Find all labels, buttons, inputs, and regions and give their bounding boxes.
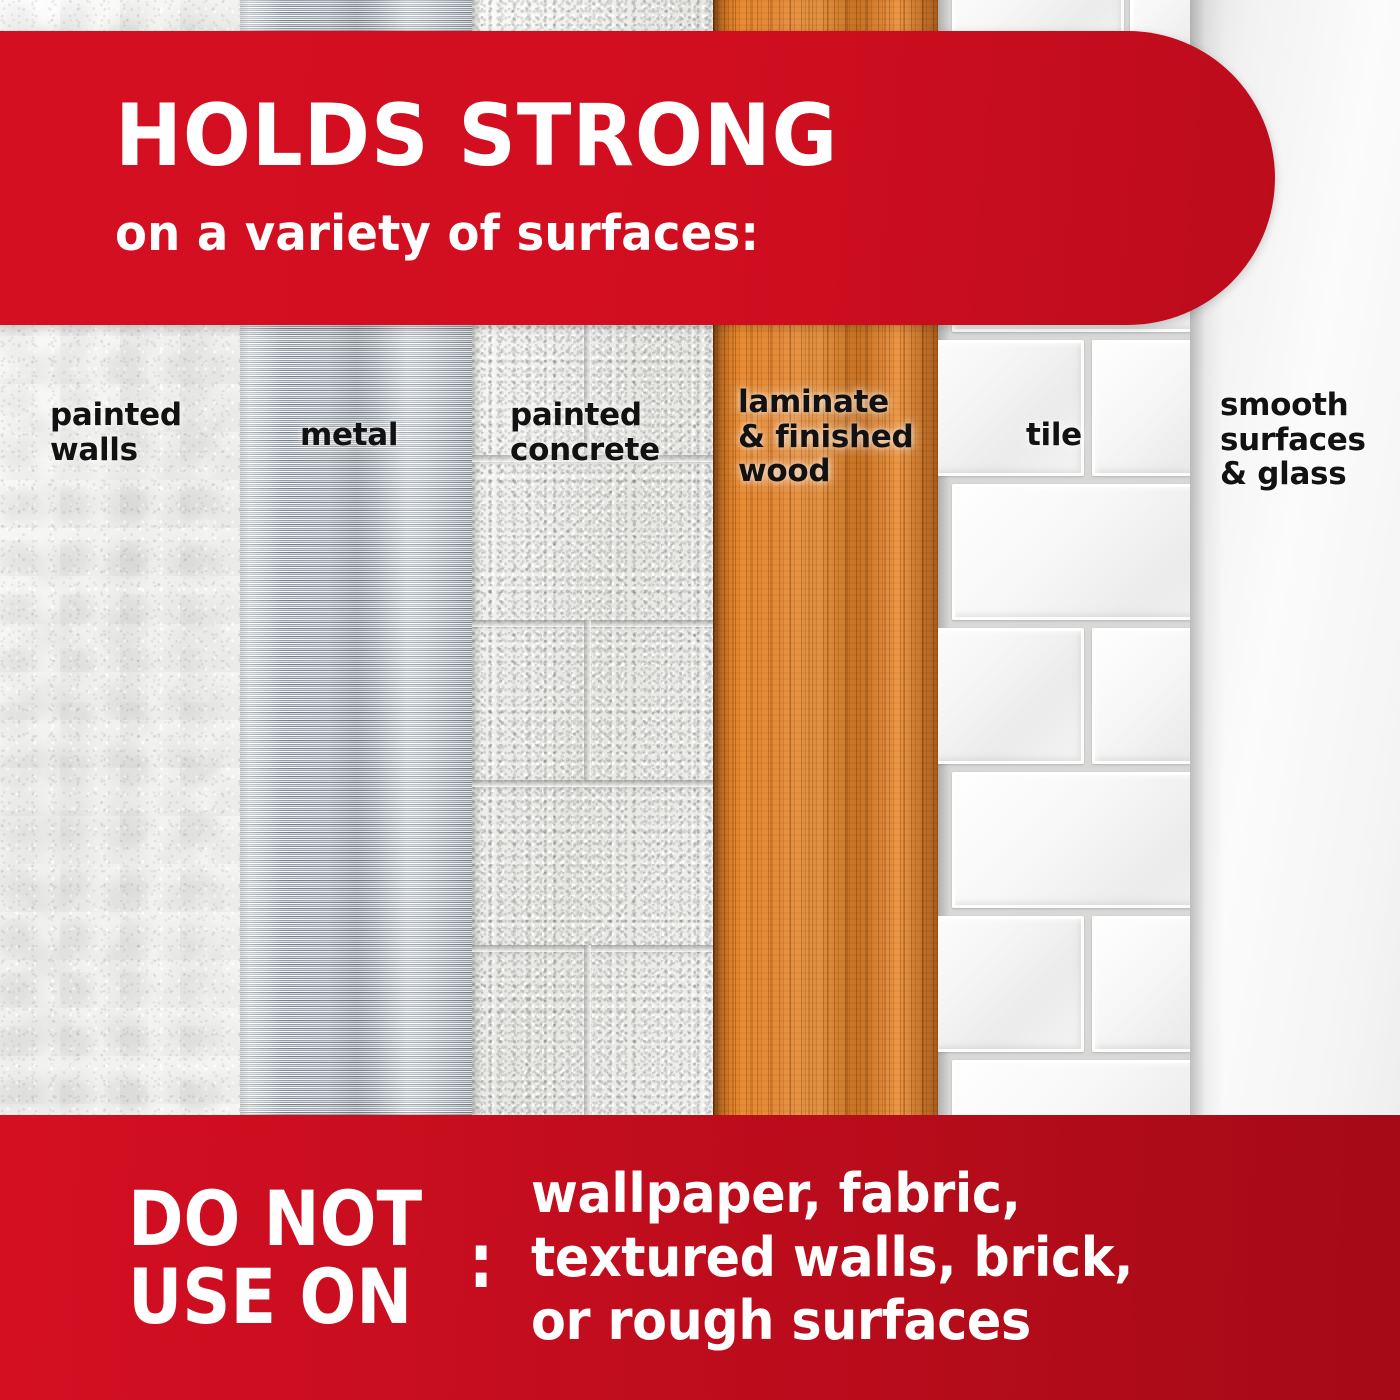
tile-unit bbox=[938, 628, 1084, 764]
mortar-joint-vertical bbox=[584, 620, 591, 780]
excluded-surfaces-list: wallpaper, fabric, textured walls, brick… bbox=[531, 1162, 1133, 1353]
surface-label-painted-walls: painted walls bbox=[50, 398, 182, 467]
subheadline-variety-of-surfaces: on a variety of surfaces: bbox=[115, 209, 854, 258]
surface-label-tile: tile bbox=[1026, 418, 1082, 453]
do-not-use-colon: : bbox=[469, 1223, 493, 1299]
mortar-joint-horizontal bbox=[472, 945, 713, 952]
do-not-use-banner: DO NOT USE ON : wallpaper, fabric, textu… bbox=[0, 1115, 1400, 1400]
mortar-joint-horizontal bbox=[472, 780, 713, 787]
surface-label-smooth-glass: smooth surfaces & glass bbox=[1220, 388, 1366, 492]
tile-unit bbox=[952, 484, 1190, 620]
tile-unit bbox=[938, 340, 1084, 476]
do-not-use-block: DO NOT USE ON : wallpaper, fabric, textu… bbox=[128, 1162, 1171, 1353]
mortar-joint-vertical bbox=[584, 945, 591, 1115]
tile-unit bbox=[1092, 628, 1190, 764]
tile-unit bbox=[1092, 340, 1190, 476]
surface-label-painted-concrete: painted concrete bbox=[510, 398, 660, 467]
banner-text-block: HOLDS STRONG on a variety of surfaces: bbox=[115, 31, 893, 258]
tile-unit bbox=[1092, 916, 1190, 1052]
infographic-root: painted walls metal painted concrete lam… bbox=[0, 0, 1400, 1400]
headline-holds-strong: HOLDS STRONG bbox=[115, 93, 838, 179]
holds-strong-banner: HOLDS STRONG on a variety of surfaces: bbox=[0, 31, 1275, 325]
tile-unit bbox=[938, 916, 1084, 1052]
do-not-use-heading: DO NOT USE ON bbox=[128, 1180, 422, 1335]
surface-label-metal: metal bbox=[300, 418, 398, 453]
surface-label-laminate-wood: laminate & finished wood bbox=[738, 385, 913, 489]
mortar-joint-horizontal bbox=[472, 620, 713, 627]
tile-unit bbox=[952, 772, 1190, 908]
